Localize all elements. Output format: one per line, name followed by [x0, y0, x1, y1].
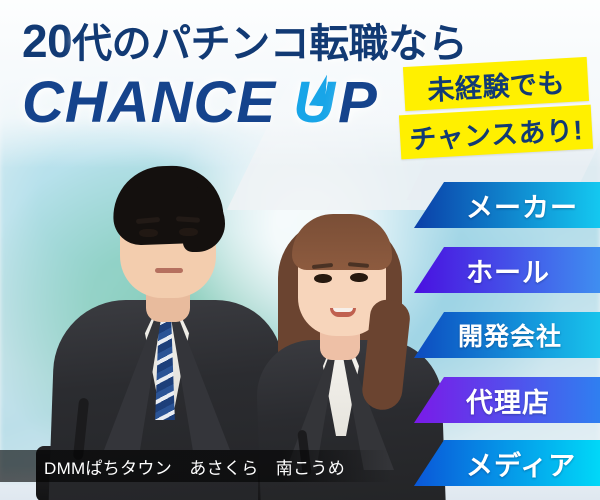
category-list: メーカー ホール 開発会社 代理店 メディア — [0, 0, 600, 500]
category-label: 開発会社 — [458, 317, 562, 353]
category-item-maker[interactable]: メーカー — [414, 182, 600, 228]
category-item-development-company[interactable]: 開発会社 — [414, 312, 600, 358]
category-label: メディア — [466, 444, 576, 483]
category-item-hall[interactable]: ホール — [414, 247, 600, 293]
category-label: 代理店 — [466, 381, 550, 420]
credit-caption-text: DMMぱちタウン あさくら 南こうめ — [44, 454, 345, 479]
category-item-agency[interactable]: 代理店 — [414, 377, 600, 423]
category-label: ホール — [466, 251, 550, 290]
category-item-media[interactable]: メディア — [414, 440, 600, 486]
credit-caption: DMMぱちタウン あさくら 南こうめ — [0, 450, 392, 482]
ad-banner: 20代のパチンコ転職なら CHANCE UP 未経験でも チャンスあり! メーカ… — [0, 0, 600, 500]
category-label: メーカー — [466, 186, 578, 225]
